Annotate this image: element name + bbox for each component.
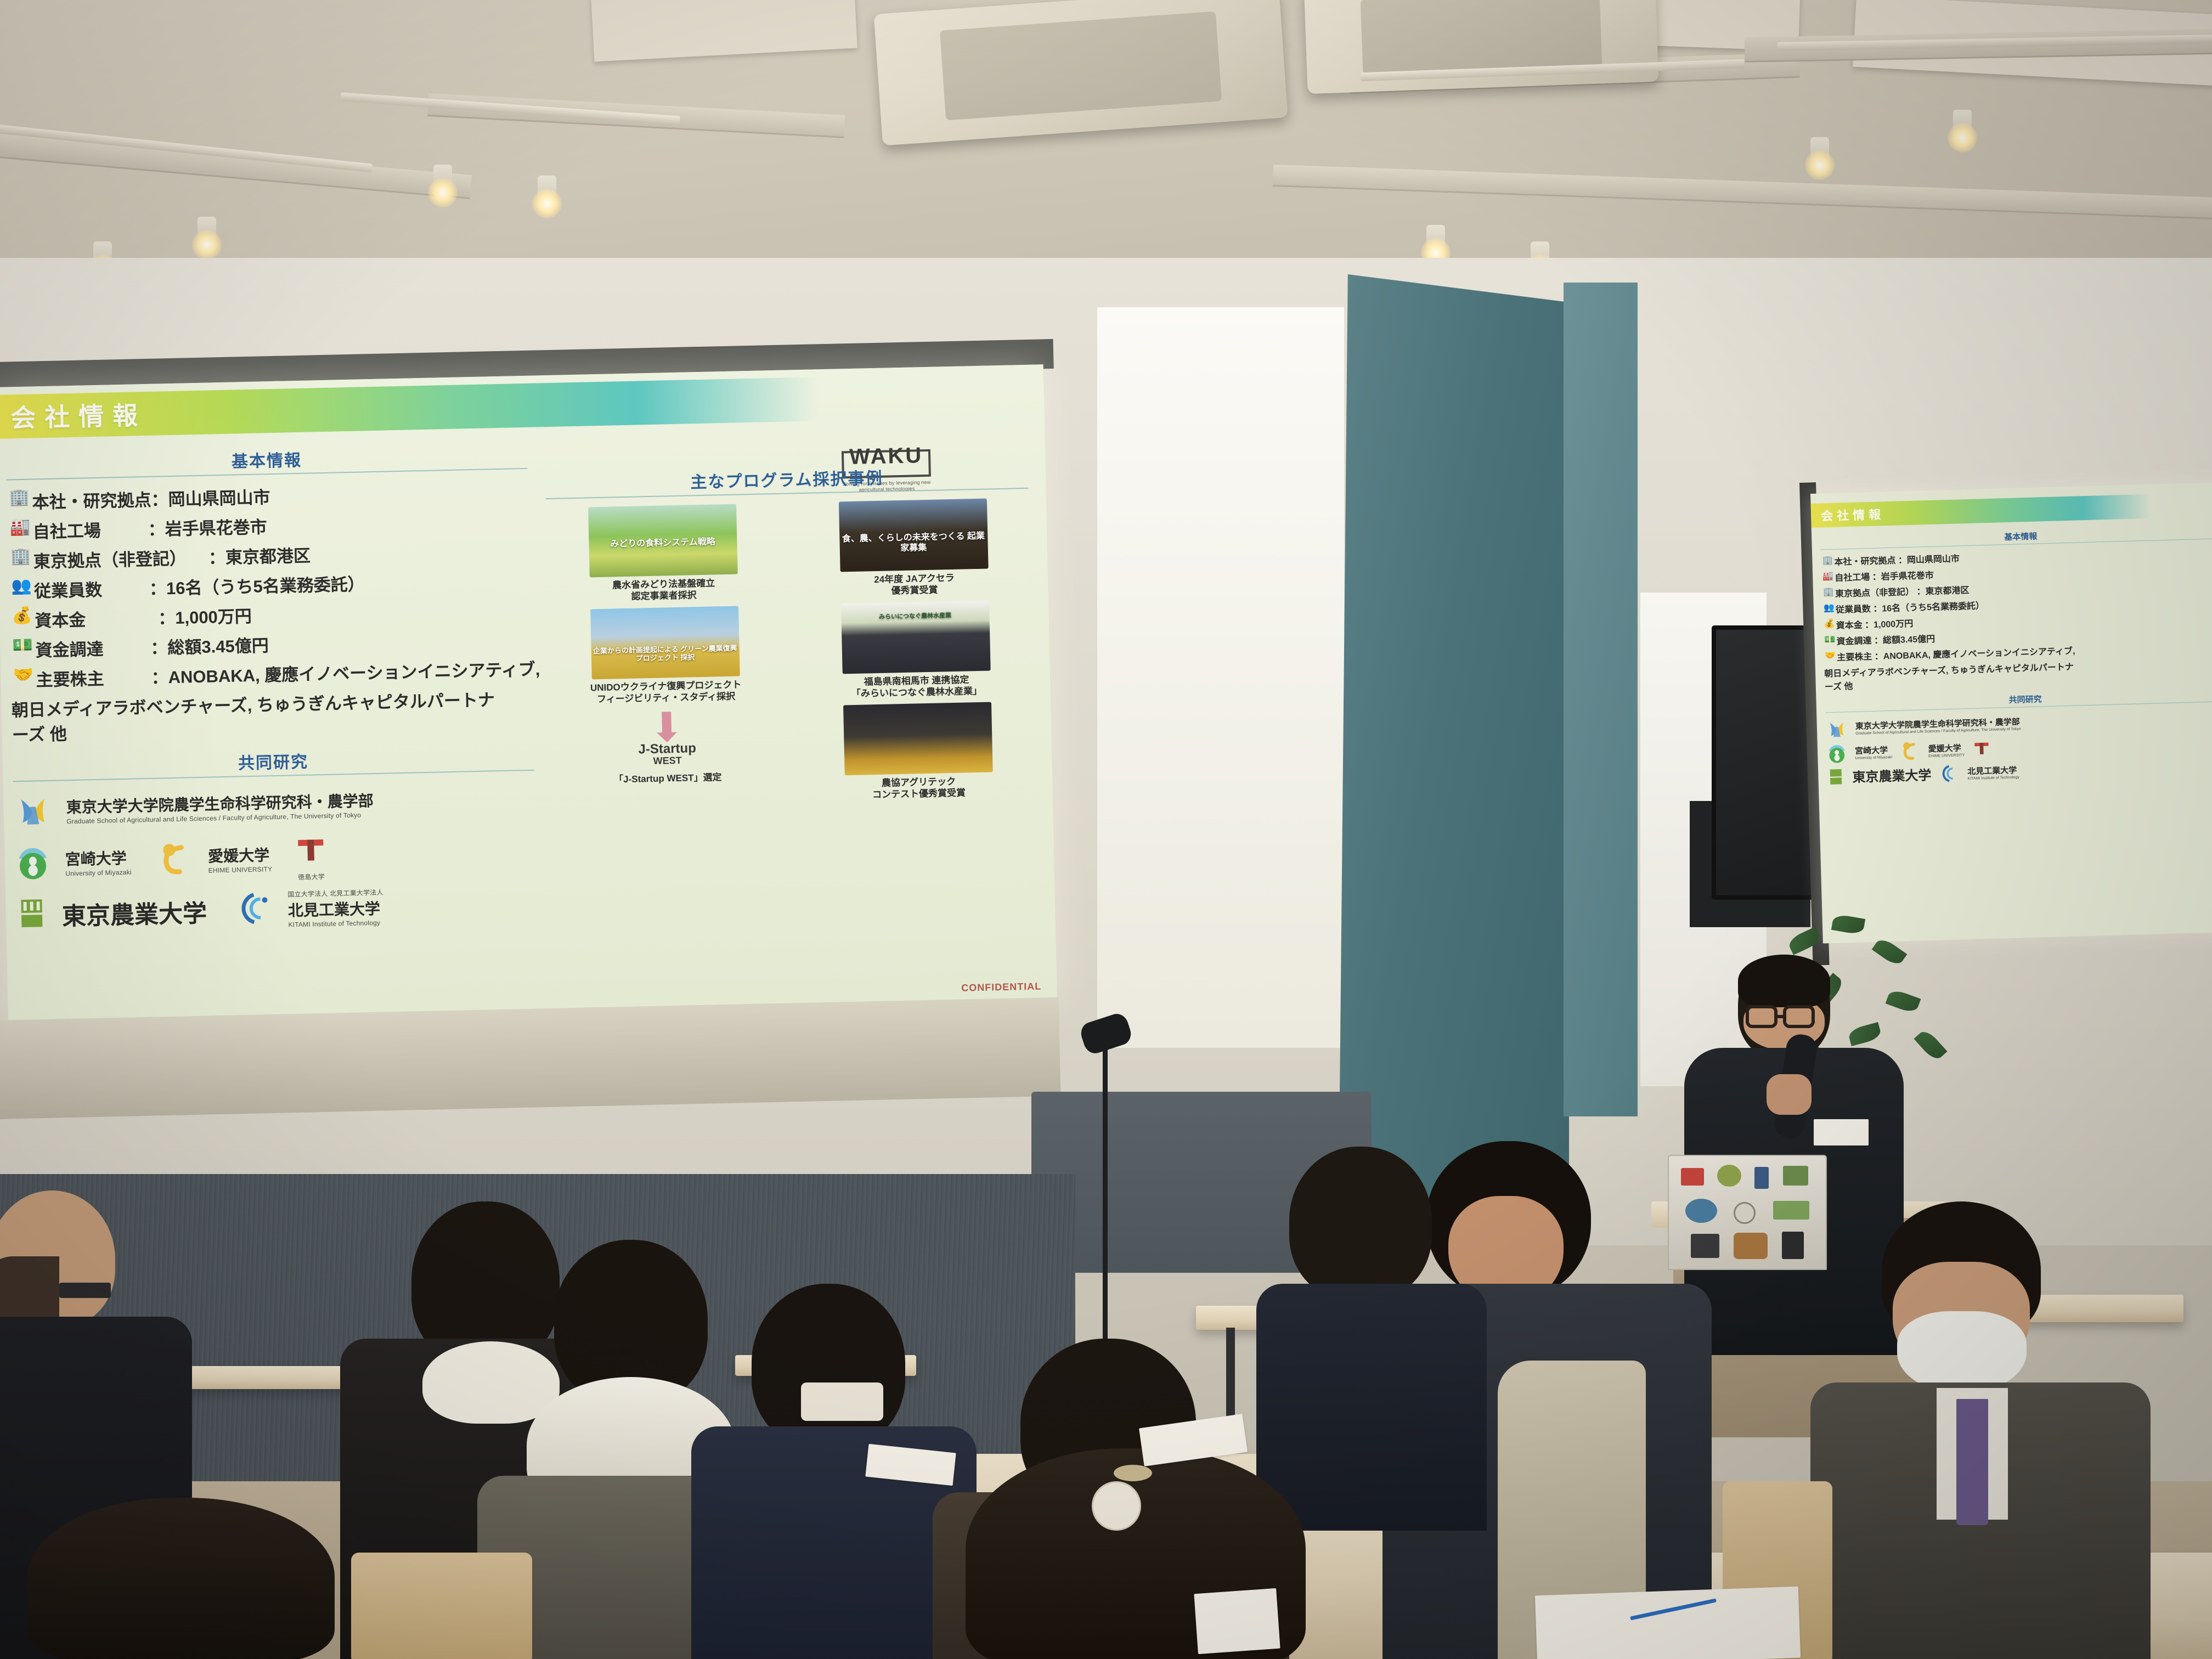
joint-research-heading: 共同研究 [13, 743, 534, 779]
handout-paper [1194, 1588, 1280, 1654]
spotlight-icon [433, 165, 452, 193]
program-thumbnail [843, 702, 993, 776]
partner-logo-row: 東京大学大学院農学生命科学研究科・農学部 Graduate School of … [13, 780, 535, 832]
spotlight-icon [198, 217, 216, 245]
info-row: 👥 従業員数 ： 16名（うち5名業務委託） [9, 567, 531, 603]
info-separator: ： [158, 604, 176, 629]
ceiling-beam [1273, 165, 2212, 219]
partner-name: 宮崎大学 [65, 847, 131, 870]
program-caption: 24年度 JAアクセラ 優秀賞受賞 [798, 571, 1031, 599]
info-separator: ： [151, 486, 168, 511]
building-icon: 🏢 [1822, 586, 1836, 600]
presenter-hair [1738, 955, 1830, 1007]
program-item: みどりの食料システム戦略 農水省みどり法基盤確立 認定事業者採択 [546, 503, 780, 605]
info-label: 東京拠点（非登記） [33, 544, 187, 572]
partner-name: 北見工業大学 [287, 897, 383, 921]
slide-left-column: 基本情報 🏢 本社・研究拠点 ： 岡山県岡山市 🏭 自社工場 ： 岩手県花巻市 … [6, 442, 538, 935]
people-icon: 👥 [9, 578, 35, 595]
info-value: 岡山県岡山市 [168, 483, 270, 510]
slide-title: 会社情報 [10, 396, 146, 435]
presenter-name-badge [1814, 1119, 1869, 1145]
projection-screen: 会社情報 WAKU Solving rural issues by levera… [0, 364, 1057, 1023]
info-label: 自社工場 [32, 517, 101, 543]
building-icon: 🏢 [1821, 555, 1835, 568]
info-text: 自社工場 ：岩手県花巻市 [1835, 568, 1934, 584]
partner-subtitle: University of Miyazaki [65, 868, 132, 878]
info-separator: ： [148, 515, 165, 540]
program-item: みらいにつなぐ農林水産業 福島県南相馬市 連携協定 「みらいにつなぐ農林水産業」 [799, 599, 1033, 701]
program-item: 食、農、くらしの未来をつくる 起業家募集 24年度 JAアクセラ 優秀賞受賞 [797, 498, 1031, 599]
necktie [1956, 1399, 1988, 1525]
kitami-logo-icon [235, 891, 274, 929]
ac-cassette-unit-icon [1304, 0, 1659, 94]
audience-member [1799, 1201, 2151, 1659]
thumbnail-overlay-text: 企業からの計画提起による グリーン農業復興プロジェクト 採択 [591, 644, 740, 664]
info-label: 資本金 [35, 606, 86, 631]
info-separator: ： [149, 574, 167, 600]
factory-icon: 🏭 [1821, 571, 1835, 584]
laptop-sticker [1734, 1233, 1768, 1259]
audience-member [27, 1498, 335, 1659]
miyazaki-logo-icon [1826, 742, 1848, 764]
conference-room-photo: 会社情報 WAKU Solving rural issues by levera… [0, 0, 2212, 1659]
program-thumbnail: みらいにつなぐ農林水産業 [840, 600, 990, 674]
second-slide-header: 会社情報 [1811, 494, 2152, 528]
tokushima-t-logo-icon: 徳島大学 [294, 833, 329, 882]
program-item: 企業からの計画提起による グリーン農業復興プロジェクト 採択 UNIDOウクライ… [548, 605, 782, 706]
glasses-icon [1746, 1005, 1778, 1028]
info-row: 🏭 自社工場 ： 岩手県花巻市 [7, 507, 529, 544]
info-value: 東京都港区 [225, 542, 311, 568]
head [752, 1284, 905, 1448]
spotlight-icon [538, 176, 556, 204]
info-label: 主要株主 [36, 665, 104, 691]
info-label: 資金調達 [35, 635, 104, 662]
program-thumbnail: 企業からの計画提起による グリーン農業復興プロジェクト 採択 [590, 606, 740, 679]
mask [801, 1383, 883, 1421]
partner-logo-row: 東京農業大学 国立大学法人 北見工業大学法人 北見工業大学 KITAMI Ins… [15, 884, 537, 935]
info-value: 1,000万円 [175, 602, 252, 629]
program-grid: みどりの食料システム戦略 農水省みどり法基盤確立 認定事業者採択 食、農、くらし… [546, 498, 1035, 808]
nodai-logo-icon [15, 896, 48, 933]
ceiling-panel [591, 0, 857, 61]
program-thumbnail: 食、農、くらしの未来をつくる 起業家募集 [838, 499, 988, 572]
partner-name: 東京農業大学 [1852, 764, 1932, 786]
laptop-sticker [1717, 1165, 1741, 1187]
teal-column-secondary [1564, 283, 1638, 1116]
ac-cassette-unit-icon [874, 0, 1288, 146]
handshake-icon: 🤝 [1824, 650, 1837, 664]
ceiling-beam [0, 132, 472, 199]
slide-right-column: 主なプログラム採択事例 みどりの食料システム戦略 農水省みどり法基盤確立 認定事… [544, 431, 1035, 808]
head [1289, 1147, 1432, 1300]
moneybag-icon: 💰 [1822, 618, 1836, 632]
people-icon: 👥 [1822, 602, 1836, 616]
jstartup-line1: J-Startup [638, 741, 696, 757]
program-caption: UNIDOウクライナ復興プロジェクト フィージビリティ・スタディ採択 [550, 678, 782, 706]
jstartup-line2: WEST [551, 753, 783, 769]
info-text: 資本金 ：1,000万円 [1836, 616, 1913, 631]
info-row: 🏢 本社・研究拠点 ： 岡山県岡山市 [7, 478, 528, 514]
partner-subtitle: EHIME UNIVERSITY [1928, 753, 1965, 758]
second-slide-body: 基本情報 🏢本社・研究拠点 ：岡山県岡山市 🏭自社工場 ：岩手県花巻市 🏢東京拠… [1820, 525, 2212, 786]
presentation-slide: 会社情報 WAKU Solving rural issues by levera… [0, 364, 1057, 1023]
thumbnail-overlay-text: みらいにつなぐ農林水産業 [841, 612, 989, 622]
info-row: 🤝 主要株主 ： ANOBAKA, 慶應イノベーションイニシアティブ, [10, 656, 532, 692]
partner-name: 北見工業大学 [1967, 764, 2019, 777]
chair [351, 1553, 532, 1659]
info-separator: ： [150, 634, 168, 659]
presenter-hand [1767, 1074, 1812, 1115]
tokushima-t-logo-icon [1972, 738, 1991, 760]
glasses-bridge [1778, 1015, 1785, 1018]
banknotes-icon: 💵 [10, 636, 36, 654]
info-text: 資金調達 ：総額3.45億円 [1836, 631, 1935, 647]
miyazaki-logo-icon [14, 843, 52, 883]
spotlight-icon [1426, 225, 1445, 253]
program-caption: 農水省みどり法基盤確立 認定事業者採択 [548, 576, 780, 605]
laptop-sticker [1734, 1202, 1756, 1224]
kitami-logo-icon [1939, 764, 1960, 783]
microphone-stand [1103, 1031, 1108, 1339]
info-label: 従業員数 [34, 576, 103, 602]
moneybag-icon: 💰 [9, 607, 35, 625]
programs-heading: 主なプログラム採択事例 [545, 461, 1029, 496]
partner-logo-row: 宮崎大学 University of Miyazaki 愛媛大学 EHIME U… [14, 828, 537, 888]
program-thumbnail: みどりの食料システム戦略 [588, 504, 738, 578]
partner-subtitle: 徳島大学 [294, 872, 328, 882]
building-icon: 🏢 [7, 489, 32, 506]
partner-name: 宮崎大学 [1855, 744, 1892, 757]
info-value: 総額3.45億円 [167, 631, 269, 658]
info-row: 🏢 東京拠点（非登記） ： 東京都港区 [8, 537, 529, 573]
partner-name: 愛媛大学 [208, 843, 272, 867]
program-item: ⬇ J-Startup WEST 「J-Startup WEST」選定 [550, 707, 785, 808]
head [27, 1498, 335, 1659]
glasses-icon [59, 1283, 111, 1298]
partner-name: 愛媛大学 [1928, 742, 1965, 754]
face-mask-icon [1897, 1311, 2027, 1393]
info-label: 本社・研究拠点 [32, 486, 151, 513]
leaf-icon [1831, 913, 1865, 935]
ehime-logo-icon [1899, 741, 1921, 762]
info-value: 16名（うち5名業務委託） [166, 570, 365, 599]
partner-name: 東京農業大学 [61, 893, 207, 932]
leaf-icon [1914, 1028, 1947, 1062]
info-text: 本社・研究拠点 ：岡山県岡山市 [1834, 551, 1960, 567]
handout-paper [1535, 1587, 1801, 1659]
ceiling [0, 0, 2212, 285]
cup [1092, 1481, 1141, 1531]
partner-subtitle: University of Miyazaki [1855, 755, 1892, 760]
info-text: 東京拠点（非登記） ：東京都港区 [1835, 583, 1970, 600]
down-arrow-icon: ⬇ [550, 711, 783, 744]
program-caption: 農協アグリテック コンテスト優秀賞受賞 [803, 774, 1035, 803]
confidential-watermark: CONFIDENTIAL [961, 981, 1041, 994]
spotlight-icon [1810, 137, 1829, 166]
ehime-logo-icon [157, 840, 195, 880]
leaf-icon [1786, 927, 1822, 955]
program-caption: 「J-Startup WEST」選定 [552, 770, 784, 787]
spotlight-icon [1953, 110, 1972, 138]
second-projection-screen: 会社情報 基本情報 🏢本社・研究拠点 ：岡山県岡山市 🏭自社工場 ：岩手県花巻市… [1810, 482, 2212, 944]
utokyo-agri-logo-icon [13, 790, 53, 832]
utokyo-agri-logo-icon [1825, 717, 1848, 740]
partner-subtitle: EHIME UNIVERSITY [208, 865, 273, 874]
nodai-logo-icon [1827, 767, 1845, 786]
info-value: 岩手県花巻市 [165, 513, 267, 540]
glasses-icon [1783, 1005, 1815, 1028]
saucer [1114, 1465, 1152, 1481]
info-separator: ： [151, 663, 168, 689]
jstartup-mark: J-Startup WEST [551, 740, 783, 769]
thumbnail-overlay-text: 食、農、くらしの未来をつくる 起業家募集 [839, 531, 988, 555]
banknotes-icon: 💵 [1823, 634, 1837, 648]
program-item: 農協アグリテック コンテスト優秀賞受賞 [801, 701, 1035, 803]
info-separator: ： [208, 544, 225, 569]
info-row: 💵 資金調達 ： 総額3.45億円 [10, 626, 532, 662]
factory-icon: 🏭 [7, 518, 33, 536]
info-text: 従業員数 ：16名（うち5名業務委託） [1836, 598, 1985, 616]
slide-header: 会社情報 [0, 377, 819, 439]
partner-subtitle: KITAMI Institute of Technology [288, 919, 384, 929]
thumbnail-overlay-text: みどりの食料システム戦略 [589, 536, 737, 550]
basic-info-heading: 基本情報 [6, 442, 528, 477]
teal-column [1339, 274, 1569, 1207]
window-left [1097, 307, 1344, 1048]
program-caption: 福島県南相馬市 連携協定 「みらいにつなぐ農林水産業」 [800, 672, 1033, 701]
second-slide-title: 会社情報 [1821, 505, 1885, 524]
handshake-icon: 🤝 [10, 666, 36, 684]
info-value: ANOBAKA, 慶應イノベーションイニシアティブ, [168, 655, 540, 688]
building-icon: 🏢 [8, 548, 33, 566]
laptop-sticker [1783, 1166, 1808, 1186]
laptop-sticker [1754, 1167, 1769, 1189]
info-row: 💰 資本金 ： 1,000万円 [9, 596, 531, 633]
